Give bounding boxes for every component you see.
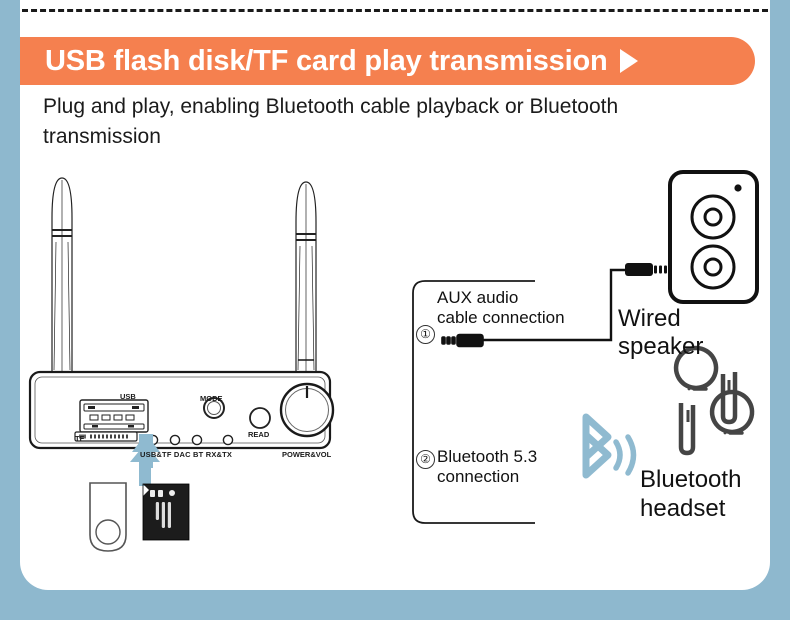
device-label-indicators: USB&TF DAC BT RX&TX [140,450,232,459]
antenna-right [296,182,316,372]
aux-cable-left-plug [442,335,483,347]
led-dac [170,435,179,444]
usb-flash-drive-icon [90,483,126,551]
device-label-mode: MODE [200,394,223,403]
aux-cable-right-plug [625,263,667,276]
led-rxtx [223,435,232,444]
usb-a-port [80,400,148,432]
speaker-icon [670,172,757,302]
power-volume-knob[interactable] [281,384,333,436]
play-triangle-icon [620,49,638,73]
bluetooth-headset-label: Bluetooth headset [640,465,741,524]
banner-title: USB flash disk/TF card play transmission [45,45,608,78]
tf-microsd-card-icon [143,484,189,540]
device-label-power-vol: POWER&VOL [282,450,331,459]
antenna-left [52,178,72,372]
bluetooth-icon [586,417,634,475]
aux-connection-label: AUX audio cable connection [437,288,565,329]
infographic-page: USB flash disk/TF card play transmission… [0,0,790,620]
read-button[interactable] [250,408,270,428]
device-label-usb: USB [120,392,136,401]
illustration-stage: USB TF MODE READ USB&TF DAC BT RX&TX POW… [20,160,770,580]
wired-speaker-label: Wired speaker [618,305,770,361]
step-number-2: ② [416,450,435,469]
device-label-read: READ [248,430,269,439]
section-banner: USB flash disk/TF card play transmission [20,37,755,85]
led-bt [192,435,201,444]
tf-card-slot [75,432,137,441]
earbuds-icon [676,348,752,453]
section-divider-dashed [22,9,768,12]
device-label-tf: TF [75,434,84,443]
step-number-1: ① [416,325,435,344]
section-subtitle: Plug and play, enabling Bluetooth cable … [43,92,683,153]
bluetooth-connection-label: Bluetooth 5.3 connection [437,447,537,488]
